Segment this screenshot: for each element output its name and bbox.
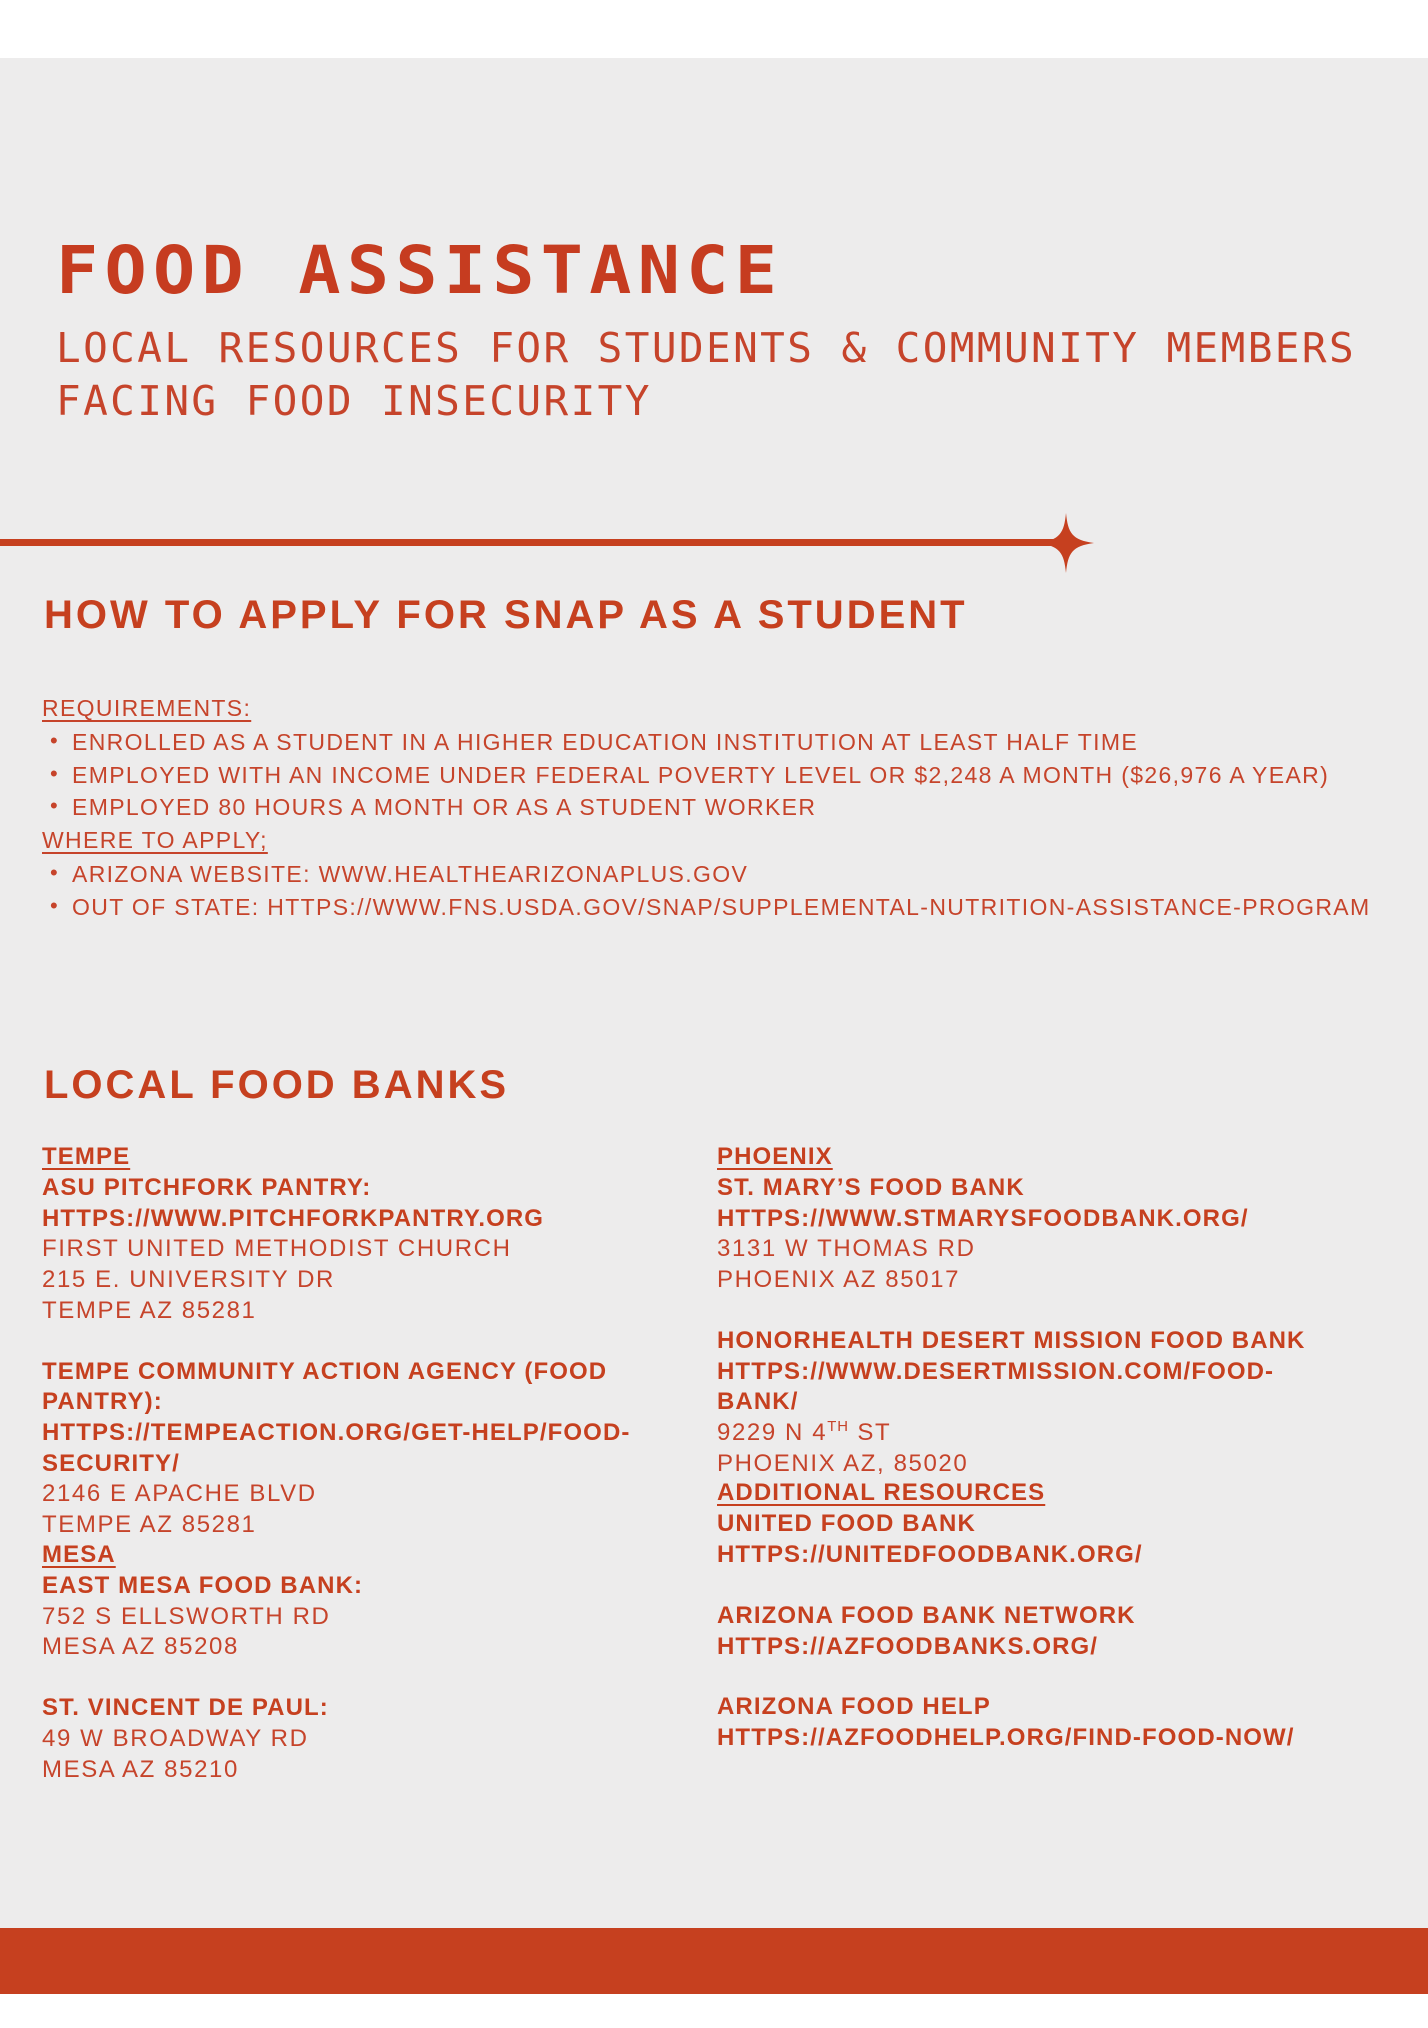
flyer-header: FOOD ASSISTANCE LOCAL RESOURCES FOR STUD… xyxy=(56,238,1376,429)
entry-address-line: TEMPE AZ 85281 xyxy=(42,1510,637,1541)
list-item[interactable]: ARIZONA WEBSITE: WWW.HEALTHEARIZONAPLUS.… xyxy=(72,859,1382,890)
where-to-apply-label: WHERE TO APPLY; xyxy=(42,825,1382,856)
city-label: PHOENIX xyxy=(717,1143,1312,1171)
list-item: ST. MARY’S FOOD BANK HTTPS://WWW.STMARYS… xyxy=(717,1173,1312,1296)
city-group-phoenix: PHOENIX ST. MARY’S FOOD BANK HTTPS://WWW… xyxy=(717,1143,1312,1479)
entry-address-line: FIRST UNITED METHODIST CHURCH xyxy=(42,1234,637,1265)
city-group-additional-resources: ADDITIONAL RESOURCES UNITED FOOD BANK HT… xyxy=(717,1479,1312,1753)
entry-address-line: PHOENIX AZ, 85020 xyxy=(717,1449,1312,1480)
entry-address-line: 215 E. UNIVERSITY DR xyxy=(42,1265,637,1296)
entry-address-line: MESA AZ 85210 xyxy=(42,1755,637,1786)
list-item: EMPLOYED WITH AN INCOME UNDER FEDERAL PO… xyxy=(72,760,1382,791)
entry-name: ASU PITCHFORK PANTRY: xyxy=(42,1173,637,1204)
flyer-page: FOOD ASSISTANCE LOCAL RESOURCES FOR STUD… xyxy=(0,0,1428,2028)
entry-name: ARIZONA FOOD BANK NETWORK xyxy=(717,1601,1312,1632)
list-item: UNITED FOOD BANK HTTPS://UNITEDFOODBANK.… xyxy=(717,1509,1312,1570)
requirements-list: ENROLLED AS A STUDENT IN A HIGHER EDUCAT… xyxy=(42,727,1382,823)
list-item: ARIZONA FOOD BANK NETWORK HTTPS://AZFOOD… xyxy=(717,1601,1312,1662)
entry-address-line-superscript: 9229 N 4TH ST xyxy=(717,1418,1312,1449)
list-item: ENROLLED AS A STUDENT IN A HIGHER EDUCAT… xyxy=(72,727,1382,758)
list-item: ASU PITCHFORK PANTRY: HTTPS://WWW.PITCHF… xyxy=(42,1173,637,1327)
food-banks-section-heading: LOCAL FOOD BANKS xyxy=(44,1063,509,1107)
city-label: MESA xyxy=(42,1541,637,1569)
city-group-tempe: TEMPE ASU PITCHFORK PANTRY: HTTPS://WWW.… xyxy=(42,1143,637,1541)
entry-address-line: MESA AZ 85208 xyxy=(42,1632,637,1663)
entry-url[interactable]: HTTPS://UNITEDFOODBANK.ORG/ xyxy=(717,1540,1312,1571)
entry-name: ST. MARY’S FOOD BANK xyxy=(717,1173,1312,1204)
entry-url[interactable]: HTTPS://WWW.STMARYSFOODBANK.ORG/ xyxy=(717,1204,1312,1235)
entry-address-line: 2146 E APACHE BLVD xyxy=(42,1479,637,1510)
entry-address-line: TEMPE AZ 85281 xyxy=(42,1296,637,1327)
entry-name: ST. VINCENT DE PAUL: xyxy=(42,1693,637,1724)
entry-url[interactable]: HTTPS://WWW.DESERTMISSION.COM/FOOD-BANK/ xyxy=(717,1357,1312,1418)
list-item: HONORHEALTH DESERT MISSION FOOD BANK HTT… xyxy=(717,1326,1312,1480)
entry-address-line: PHOENIX AZ 85017 xyxy=(717,1265,1312,1296)
entry-name: HONORHEALTH DESERT MISSION FOOD BANK xyxy=(717,1326,1312,1357)
entry-name: EAST MESA FOOD BANK: xyxy=(42,1571,637,1602)
entry-name: TEMPE COMMUNITY ACTION AGENCY (FOOD PANT… xyxy=(42,1357,637,1418)
list-item[interactable]: OUT OF STATE: HTTPS://WWW.FNS.USDA.GOV/S… xyxy=(72,892,1382,923)
city-group-mesa: MESA EAST MESA FOOD BANK: 752 S ELLSWORT… xyxy=(42,1541,637,1785)
entry-url[interactable]: HTTPS://AZFOODBANKS.ORG/ xyxy=(717,1632,1312,1663)
entry-address-line: 3131 W THOMAS RD xyxy=(717,1234,1312,1265)
food-banks-right-column: PHOENIX ST. MARY’S FOOD BANK HTTPS://WWW… xyxy=(717,1143,1312,1785)
city-label: TEMPE xyxy=(42,1143,637,1171)
page-subtitle: LOCAL RESOURCES FOR STUDENTS & COMMUNITY… xyxy=(56,322,1366,429)
snap-section-body: REQUIREMENTS: ENROLLED AS A STUDENT IN A… xyxy=(42,693,1382,925)
requirements-label: REQUIREMENTS: xyxy=(42,693,1382,724)
list-item: EMPLOYED 80 HOURS A MONTH OR AS A STUDEN… xyxy=(72,792,1382,823)
entry-url[interactable]: HTTPS://WWW.PITCHFORKPANTRY.ORG xyxy=(42,1204,637,1235)
where-to-apply-list: ARIZONA WEBSITE: WWW.HEALTHEARIZONAPLUS.… xyxy=(42,859,1382,923)
page-title: FOOD ASSISTANCE xyxy=(56,238,1428,304)
food-banks-left-column: TEMPE ASU PITCHFORK PANTRY: HTTPS://WWW.… xyxy=(42,1143,637,1785)
entry-name: ARIZONA FOOD HELP xyxy=(717,1692,1312,1723)
divider-line xyxy=(0,539,1065,546)
flyer-sheet: FOOD ASSISTANCE LOCAL RESOURCES FOR STUD… xyxy=(0,58,1428,1936)
entry-name: UNITED FOOD BANK xyxy=(717,1509,1312,1540)
list-item: EAST MESA FOOD BANK: 752 S ELLSWORTH RD … xyxy=(42,1571,637,1663)
list-item: TEMPE COMMUNITY ACTION AGENCY (FOOD PANT… xyxy=(42,1357,637,1541)
food-banks-columns: TEMPE ASU PITCHFORK PANTRY: HTTPS://WWW.… xyxy=(42,1143,1390,1785)
entry-address-line: 752 S ELLSWORTH RD xyxy=(42,1602,637,1633)
street-number-prefix: 9229 N 4 xyxy=(717,1419,827,1446)
snap-section-heading: HOW TO APPLY FOR SNAP AS A STUDENT xyxy=(44,593,968,637)
street-name-suffix: ST xyxy=(849,1419,891,1446)
footer-accent-bar xyxy=(0,1928,1428,1994)
entry-url[interactable]: HTTPS://AZFOODHELP.ORG/FIND-FOOD-NOW/ xyxy=(717,1723,1312,1754)
list-item: ST. VINCENT DE PAUL: 49 W BROADWAY RD ME… xyxy=(42,1693,637,1785)
entry-address-line: 49 W BROADWAY RD xyxy=(42,1724,637,1755)
header-divider xyxy=(0,513,1120,573)
additional-resources-label: ADDITIONAL RESOURCES xyxy=(717,1479,1312,1507)
list-item: ARIZONA FOOD HELP HTTPS://AZFOODHELP.ORG… xyxy=(717,1692,1312,1753)
entry-url[interactable]: HTTPS://TEMPEACTION.ORG/GET-HELP/FOOD-SE… xyxy=(42,1418,637,1479)
ordinal-suffix: TH xyxy=(827,1419,849,1435)
sparkle-star-icon xyxy=(1036,513,1096,573)
